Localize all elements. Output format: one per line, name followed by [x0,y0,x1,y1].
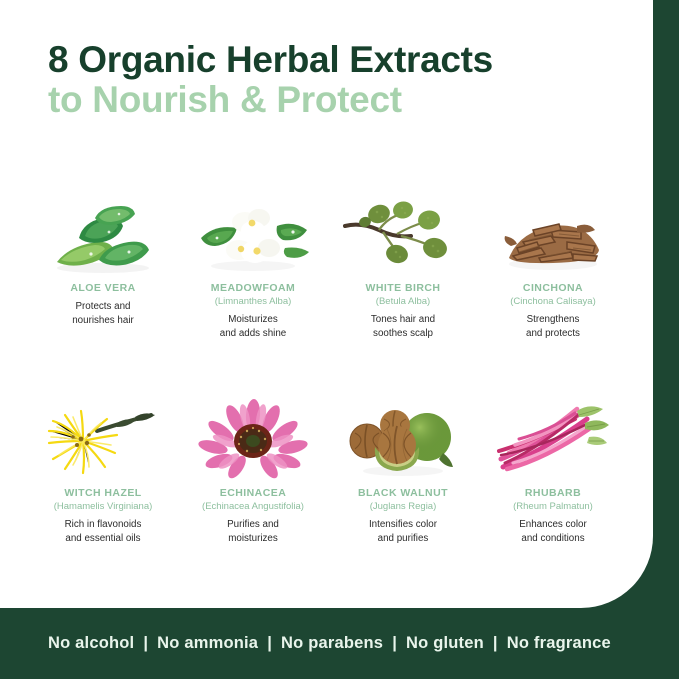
ingredient-description: Tones hair and soothes scalp [371,313,435,341]
white-birch-icon [339,192,467,276]
header: 8 Organic Herbal Extracts to Nourish & P… [0,40,653,122]
page-frame: 8 Organic Herbal Extracts to Nourish & P… [0,0,679,679]
claim-separator: | [134,634,157,653]
ingredient-description: Enhances color and conditions [519,518,587,546]
rhubarb-icon [489,397,617,481]
ingredient-description: Protects and nourishes hair [72,300,134,328]
ingredient-name: MEADOWFOAM [211,282,295,295]
ingredient-card-rhubarb: RHUBARB (Rheum Palmatun) Enhances color … [478,397,628,602]
ingredient-name: ALOE VERA [70,282,135,295]
claim-item: No ammonia [157,634,258,653]
black-walnut-icon [339,397,467,481]
echinacea-icon [189,397,317,481]
ingredient-description: Moisturizes and adds shine [220,313,286,341]
ingredient-card-witch-hazel: WITCH HAZEL (Hamamelis Virginiana) Rich … [28,397,178,602]
ingredient-latin-name: (Echinacea Angustifolia) [202,501,304,513]
ingredient-name: BLACK WALNUT [358,487,448,500]
claims-list: No alcohol | No ammonia | No parabens | … [0,634,611,653]
ingredient-card-aloe-vera: ALOE VERA Protects and nourishes hair [28,192,178,397]
ingredient-description: Intensifies color and purifies [369,518,437,546]
claim-separator: | [383,634,406,653]
claim-item: No gluten [406,634,484,653]
page-title-primary: 8 Organic Herbal Extracts [0,40,653,79]
claim-item: No alcohol [48,634,134,653]
ingredient-card-cinchona: CINCHONA (Cinchona Calisaya) Strengthens… [478,192,628,397]
ingredient-name: WITCH HAZEL [64,487,141,500]
meadowfoam-icon [189,192,317,276]
ingredient-card-echinacea: ECHINACEA (Echinacea Angustifolia) Purif… [178,397,328,602]
claim-separator: | [258,634,281,653]
ingredient-card-white-birch: WHITE BIRCH (Betula Alba) Tones hair and… [328,192,478,397]
ingredient-card-meadowfoam: MEADOWFOAM (Limnanthes Alba) Moisturizes… [178,192,328,397]
ingredient-name: CINCHONA [523,282,583,295]
ingredient-latin-name: (Limnanthes Alba) [215,296,292,308]
ingredient-name: RHUBARB [525,487,581,500]
ingredient-latin-name: (Cinchona Calisaya) [510,296,596,308]
ingredient-latin-name: (Rheum Palmatun) [513,501,593,513]
ingredient-name: ECHINACEA [220,487,286,500]
claim-item: No fragrance [507,634,611,653]
ingredient-grid: ALOE VERA Protects and nourishes hair [28,192,628,602]
ingredient-latin-name: (Juglans Regia) [370,501,437,513]
ingredient-description: Rich in flavonoids and essential oils [65,518,142,546]
ingredient-card-black-walnut: BLACK WALNUT (Juglans Regia) Intensifies… [328,397,478,602]
page-title-secondary: to Nourish & Protect [0,79,653,122]
ingredient-latin-name: (Hamamelis Virginiana) [54,501,153,513]
claim-separator: | [484,634,507,653]
claims-bar: No alcohol | No ammonia | No parabens | … [0,608,679,679]
witch-hazel-icon [39,397,167,481]
ingredient-name: WHITE BIRCH [366,282,441,295]
ingredient-description: Purifies and moisturizes [227,518,279,546]
ingredient-latin-name: (Betula Alba) [376,296,430,308]
cinchona-bark-icon [489,192,617,276]
ingredient-description: Strengthens and protects [526,313,580,341]
claim-item: No parabens [281,634,383,653]
aloe-vera-icon [39,192,167,276]
